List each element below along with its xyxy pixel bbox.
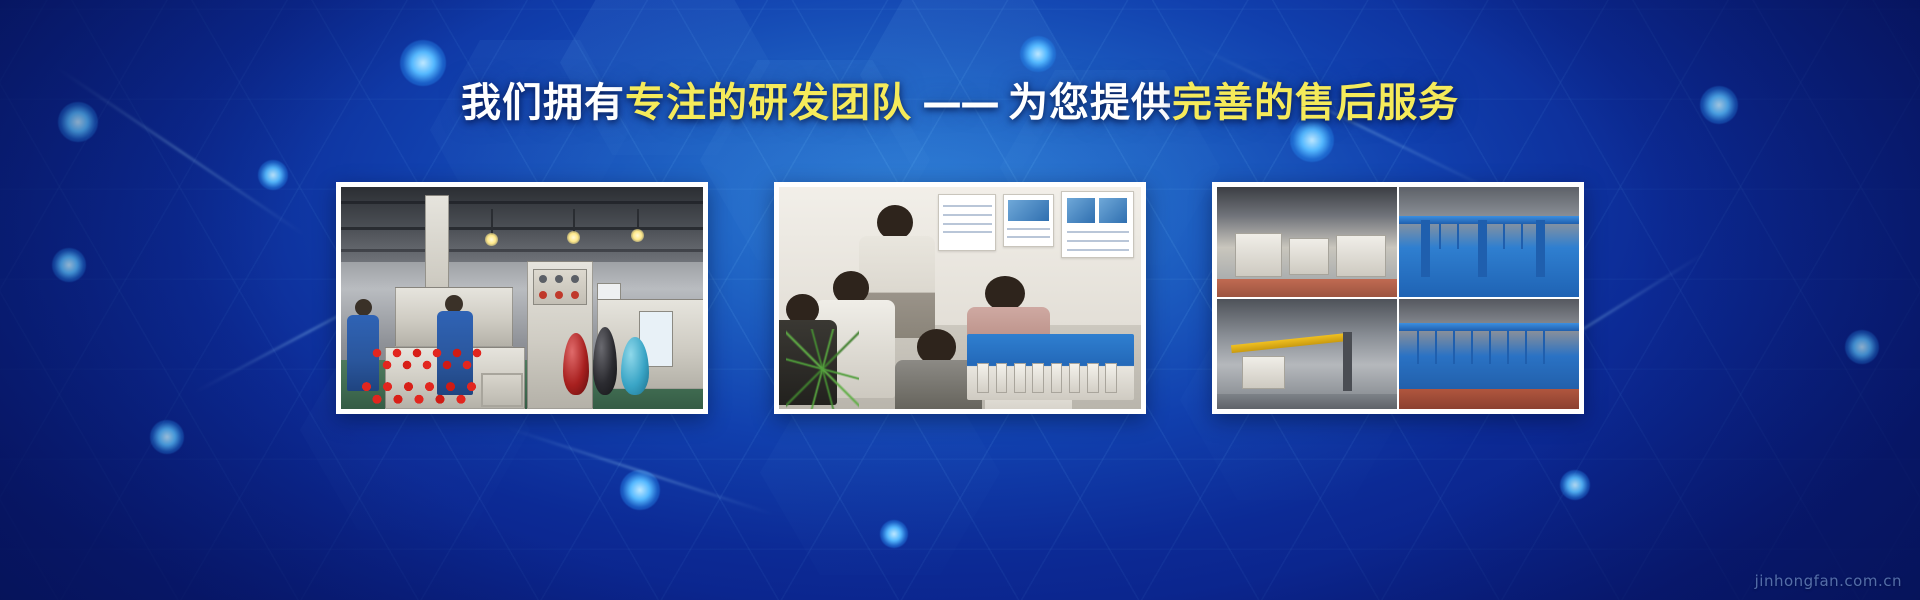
control-knob-red (571, 291, 579, 299)
plastic-crate (481, 373, 523, 407)
ceiling-lamp (567, 231, 580, 244)
roof-beam (341, 249, 703, 252)
wall-poster (1061, 191, 1133, 258)
poster-image (1067, 198, 1095, 224)
photo-production-line (341, 187, 703, 409)
photo-frame-team-meeting[interactable] (774, 182, 1146, 414)
collage-cell-workshop (1217, 187, 1397, 297)
equipment-cabinet (1336, 235, 1386, 277)
conveyor-hook (1457, 224, 1459, 248)
poster-line (1007, 228, 1050, 230)
conveyor-hook (1543, 331, 1545, 364)
banner-title: 我们拥有专注的研发团队——为您提供完善的售后服务 (461, 78, 1459, 128)
floor-strip (1399, 389, 1579, 409)
support-post (1421, 220, 1430, 277)
yellow-crane-arm (1231, 332, 1350, 352)
site-watermark: jinhongfan.com.cn (1755, 572, 1902, 590)
poster-line (1067, 249, 1129, 251)
equipment-cabinet (1235, 233, 1282, 277)
control-knob (539, 275, 547, 283)
conveyor-hook (1453, 331, 1455, 364)
conveyor-hook (1521, 224, 1523, 248)
conveyor-hook (1507, 331, 1509, 364)
photo-team-meeting (779, 187, 1141, 409)
poster-line (943, 214, 992, 216)
poster-image (1008, 200, 1049, 222)
equipment-slot (996, 363, 1008, 394)
conveyor-hook (1439, 224, 1441, 248)
conveyor-hook (1417, 331, 1419, 364)
equipment-cabinet (1289, 238, 1329, 275)
title-segment-1: 我们拥有 (461, 80, 625, 126)
poster-line (1067, 231, 1129, 233)
collage-cell-conveyor (1217, 299, 1397, 409)
red-product-tray (367, 345, 487, 375)
lamp-stem (573, 209, 575, 233)
support-post (1536, 220, 1545, 277)
wall-poster (938, 194, 996, 252)
photo-frame-production-line[interactable] (336, 182, 708, 414)
floor-strip (1217, 394, 1397, 409)
lamp-stem (637, 209, 639, 231)
conveyor-hook (1489, 331, 1491, 364)
equipment-slot (1014, 363, 1026, 394)
equipment-slot (1069, 363, 1081, 394)
equipment-slot (1051, 363, 1063, 394)
equipment-cabinet (1242, 356, 1285, 389)
collage-cell-blue-line (1399, 187, 1579, 297)
title-segment-2: 为您提供 (1008, 80, 1172, 126)
support-post (1478, 220, 1487, 277)
poster-line (1007, 236, 1050, 238)
potted-plant (786, 329, 858, 409)
poster-image (1099, 198, 1127, 224)
red-product-pile (356, 378, 482, 409)
equipment-slot (977, 363, 989, 394)
overhead-rail (1399, 323, 1579, 331)
photo-gallery (0, 182, 1920, 414)
photo-equipment-collage (1217, 187, 1579, 409)
support-post (1343, 332, 1352, 391)
title-segment-dash: —— (912, 80, 1008, 126)
control-knob-red (555, 291, 563, 299)
control-knob (571, 275, 579, 283)
worker-head (355, 299, 372, 316)
promo-banner: 我们拥有专注的研发团队——为您提供完善的售后服务 (0, 0, 1920, 600)
title-segment-highlight-2: 完善的售后服务 (1172, 80, 1459, 126)
wall-poster (1003, 194, 1054, 247)
equipment-model (967, 334, 1134, 401)
conveyor-hook (1471, 331, 1473, 364)
equipment-slot (1032, 363, 1044, 394)
ceiling-lamp (485, 233, 498, 246)
roof-beam (341, 201, 703, 204)
poster-line (943, 223, 992, 225)
conveyor-hook (1435, 331, 1437, 364)
poster-line (943, 205, 992, 207)
title-segment-highlight-1: 专注的研发团队 (625, 80, 912, 126)
poster-line (943, 231, 992, 233)
conveyor-hook (1525, 331, 1527, 364)
lamp-stem (491, 209, 493, 235)
control-knob-red (539, 291, 547, 299)
poster-line (1067, 240, 1129, 242)
floor-strip (1217, 279, 1397, 297)
equipment-slot (1105, 363, 1117, 394)
collage-cell-hanging-line (1399, 299, 1579, 409)
conveyor-hook (1503, 224, 1505, 248)
person-head-standing (877, 205, 913, 241)
roof-beam (341, 227, 703, 230)
banner-title-container: 我们拥有专注的研发团队——为您提供完善的售后服务 (0, 78, 1920, 128)
photo-frame-equipment-collage[interactable] (1212, 182, 1584, 414)
ceiling-lamp (631, 229, 644, 242)
equipment-slot (1087, 363, 1099, 394)
control-knob (555, 275, 563, 283)
